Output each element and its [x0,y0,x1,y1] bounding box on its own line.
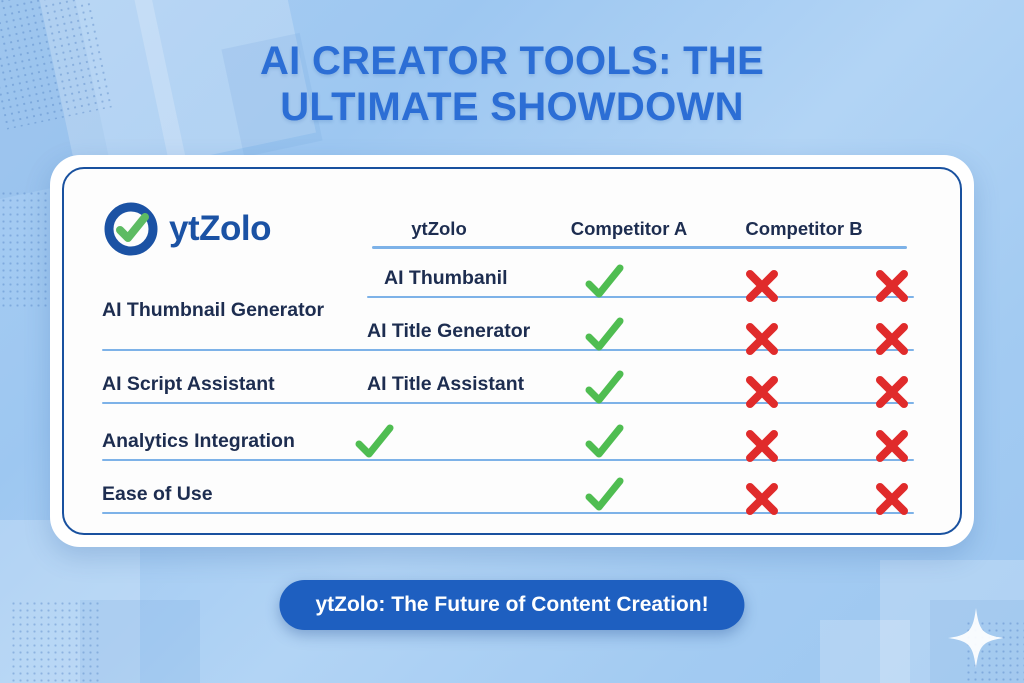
overlay-feature-label-2: AI Title Assistant [367,373,524,396]
mark-cross-b-row-3 [870,424,914,468]
column-header-competitor-a: Competitor A [544,218,714,240]
feature-label-2: Analytics Integration [102,430,295,453]
mark-check-row-3 [582,421,626,465]
row-divider [367,296,914,298]
brand-name: ytZolo [169,209,271,249]
column-header-ytzolo: ytZolo [364,218,514,240]
stray-check-mark-icon [352,421,396,465]
mark-check-row-2 [582,367,626,411]
sparkle-star-icon [948,608,1004,668]
feature-label-0: AI Thumbnail Generator [102,299,332,322]
page-title-line-2: ULTIMATE SHOWDOWN [0,84,1024,130]
mark-check-row-1 [582,314,626,358]
page-title-line-1: AI CREATOR TOOLS: THE [0,38,1024,84]
overlay-feature-label-0: AI Thumbanil [384,267,508,290]
mark-cross-b-row-0 [870,264,914,308]
bg-square [820,620,910,683]
mark-cross-b-row-2 [870,370,914,414]
mark-check-row-4 [582,474,626,518]
mark-cross-a-row-0 [740,264,784,308]
mark-cross-a-row-2 [740,370,784,414]
row-divider [102,512,914,514]
mark-cross-b-row-4 [870,477,914,521]
feature-label-1: AI Script Assistant [102,373,275,396]
row-divider [102,349,914,351]
column-header-competitor-b: Competitor B [714,218,894,240]
mark-cross-a-row-3 [740,424,784,468]
comparison-card-inner: ytZolo ytZolo Competitor A Competitor B … [62,167,962,535]
tagline-banner: ytZolo: The Future of Content Creation! [279,580,744,630]
mark-cross-b-row-1 [870,317,914,361]
mark-cross-a-row-4 [740,477,784,521]
page-title: AI CREATOR TOOLS: THE ULTIMATE SHOWDOWN [0,38,1024,131]
mark-cross-a-row-1 [740,317,784,361]
row-divider [102,459,914,461]
check-circle-logo-icon [104,202,158,256]
overlay-feature-label-1: AI Title Generator [367,320,530,343]
comparison-card: ytZolo ytZolo Competitor A Competitor B … [50,155,974,547]
header-divider [372,246,907,249]
feature-label-3: Ease of Use [102,483,213,506]
bg-dot-pattern [10,600,100,683]
brand-logo: ytZolo [104,202,271,256]
row-divider [102,402,914,404]
mark-check-row-0 [582,261,626,305]
